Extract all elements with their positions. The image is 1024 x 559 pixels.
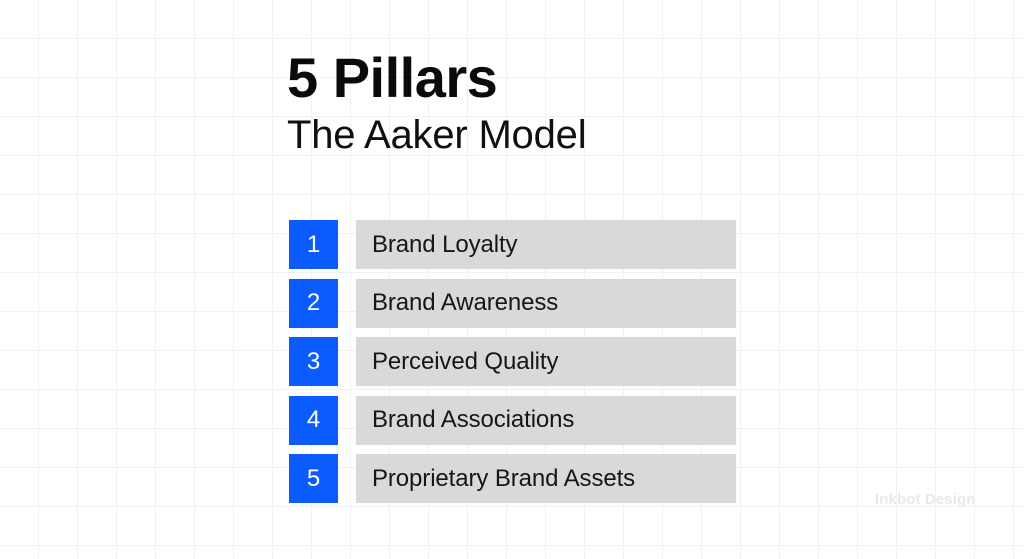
pillar-list: 1 Brand Loyalty 2 Brand Awareness 3 Perc… [289, 220, 736, 503]
list-item[interactable]: 2 Brand Awareness [289, 279, 736, 328]
pillar-label: Perceived Quality [356, 337, 736, 386]
pillar-number-badge: 2 [289, 279, 338, 328]
page-title: 5 Pillars [287, 48, 586, 107]
pillar-number-badge: 4 [289, 396, 338, 445]
pillar-number-badge: 5 [289, 454, 338, 503]
list-item[interactable]: 3 Perceived Quality [289, 337, 736, 386]
slide-canvas: 5 Pillars The Aaker Model 1 Brand Loyalt… [0, 0, 1024, 559]
watermark: Inkbot Design [875, 491, 975, 508]
pillar-label: Brand Awareness [356, 279, 736, 328]
list-item[interactable]: 1 Brand Loyalty [289, 220, 736, 269]
list-item[interactable]: 4 Brand Associations [289, 396, 736, 445]
pillar-label: Brand Loyalty [356, 220, 736, 269]
pillar-number-badge: 1 [289, 220, 338, 269]
page-subtitle: The Aaker Model [287, 113, 586, 158]
pillar-label: Proprietary Brand Assets [356, 454, 736, 503]
pillar-number-badge: 3 [289, 337, 338, 386]
pillar-label: Brand Associations [356, 396, 736, 445]
heading-block: 5 Pillars The Aaker Model [287, 48, 586, 158]
list-item[interactable]: 5 Proprietary Brand Assets [289, 454, 736, 503]
